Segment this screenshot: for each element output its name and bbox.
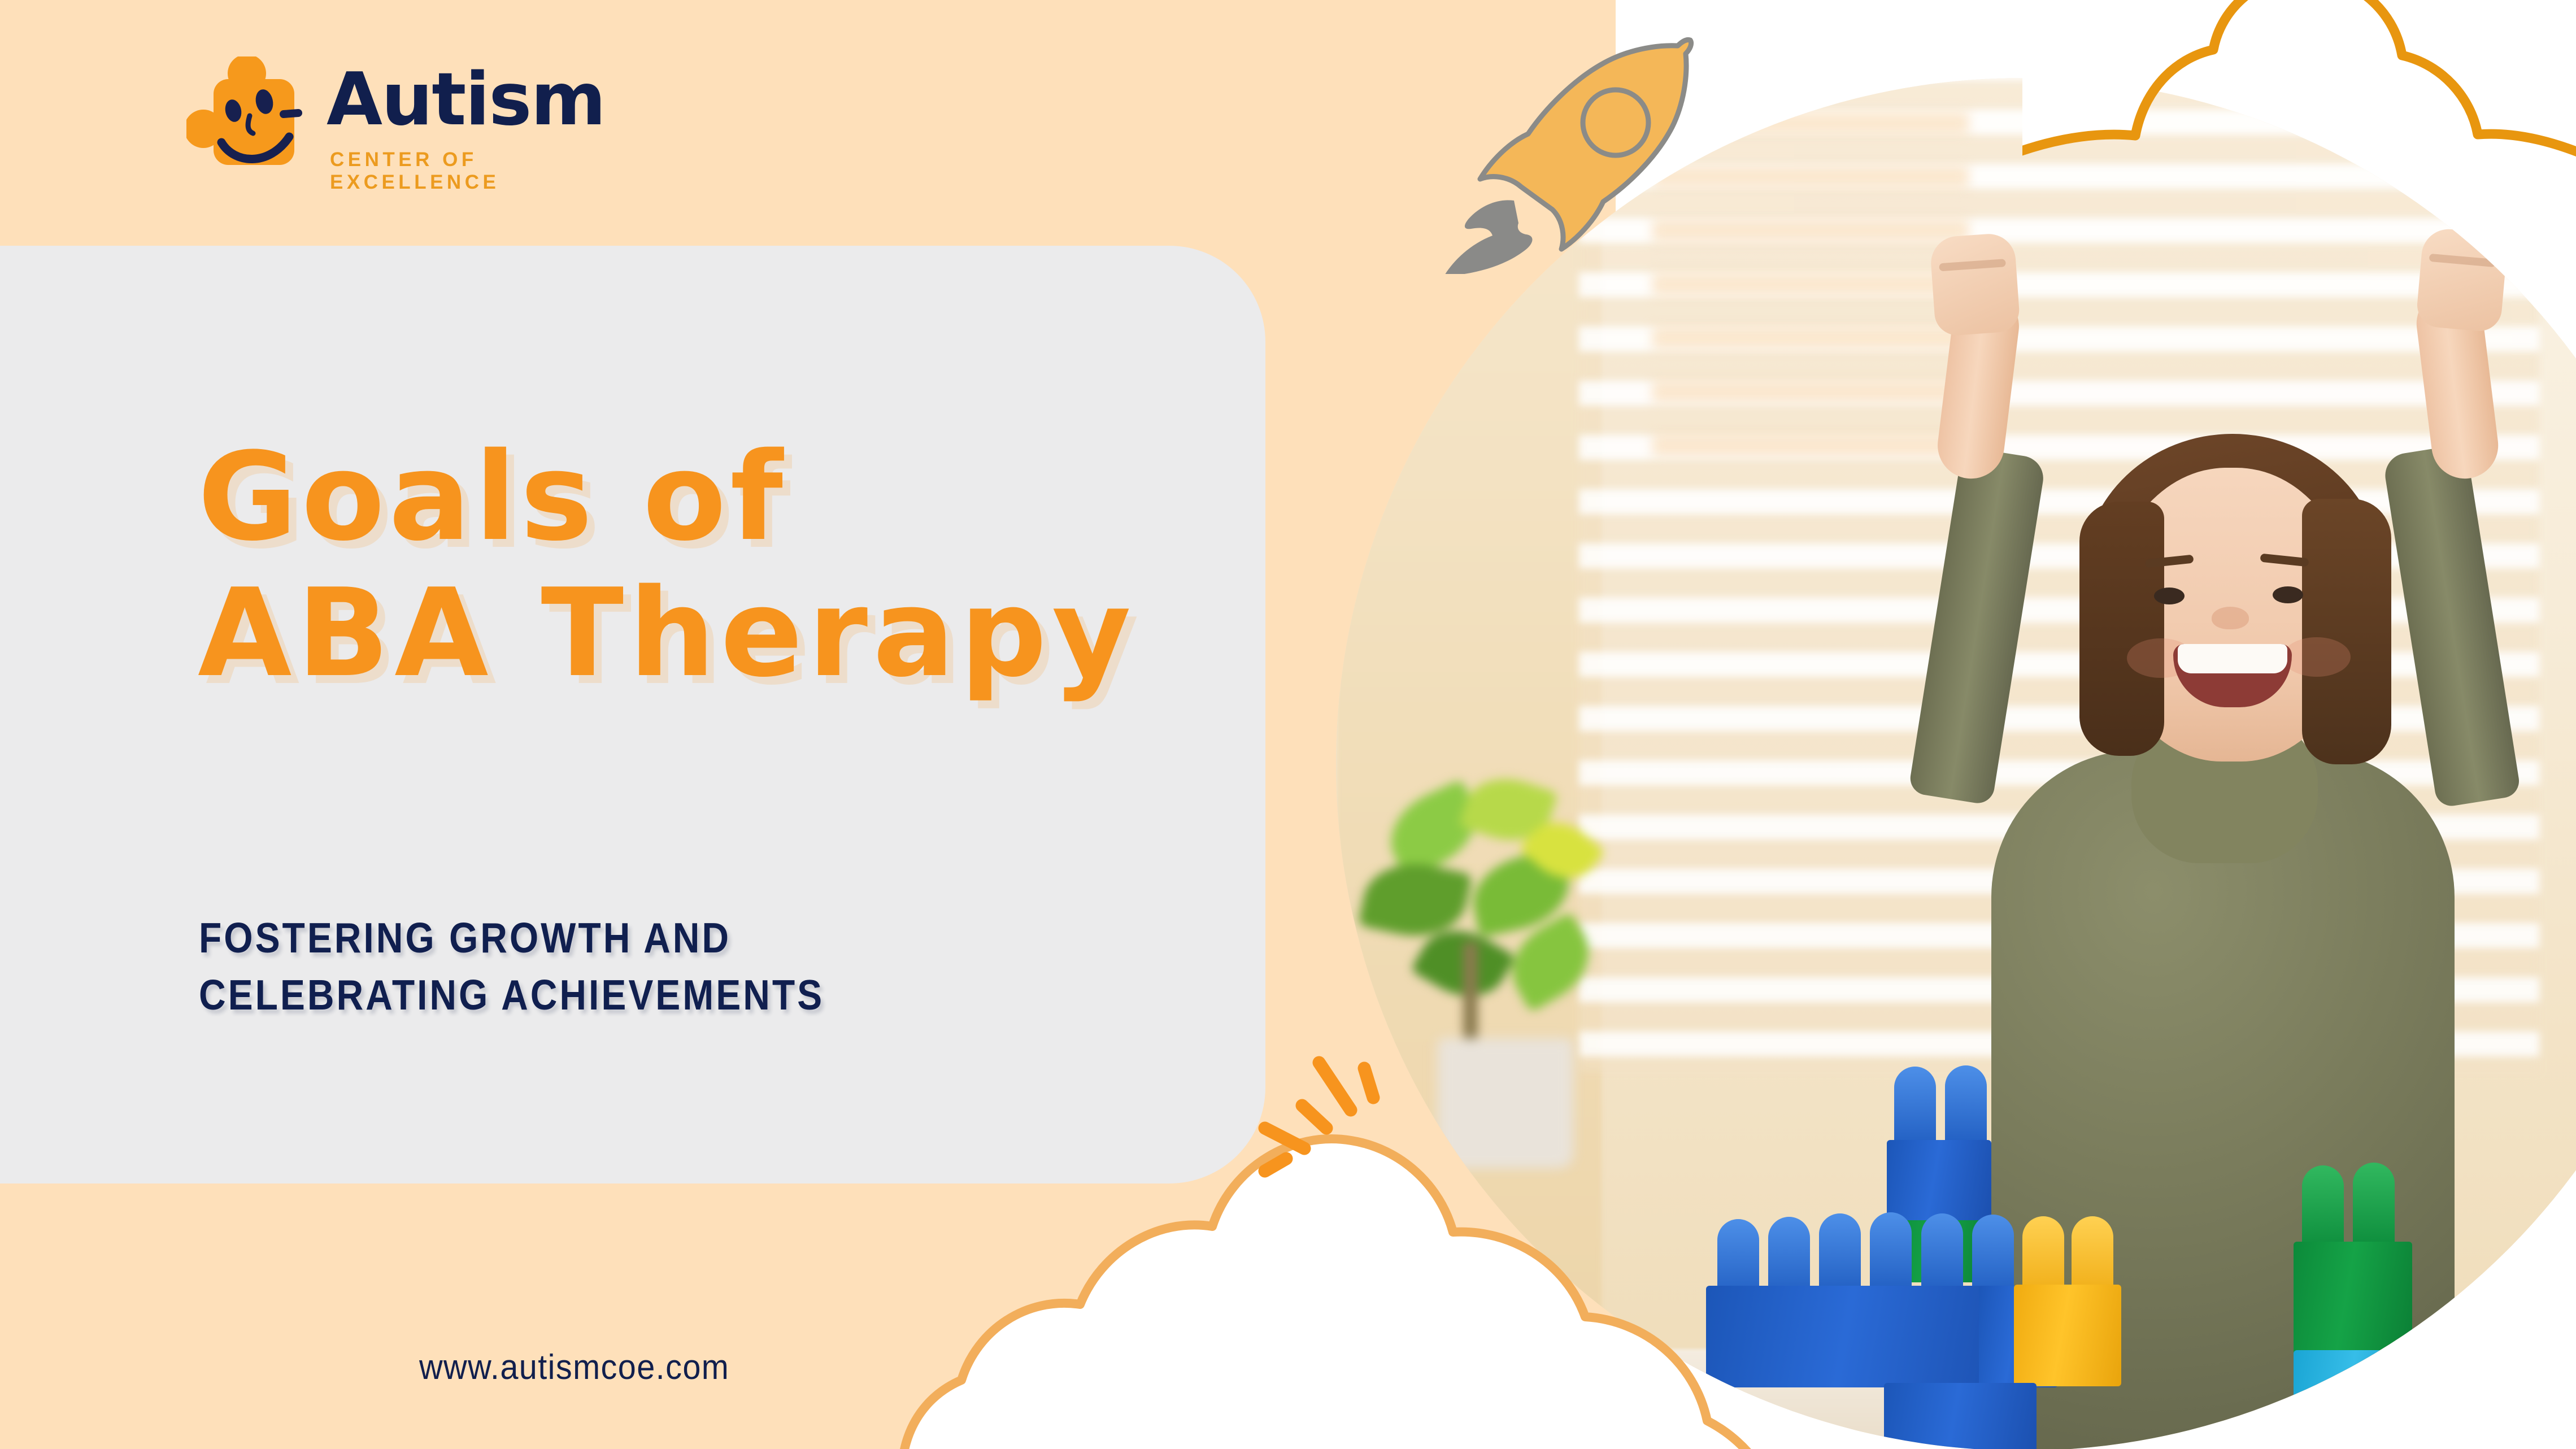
- photo-child-hair-left: [2079, 502, 2164, 756]
- photo-child-hair-right: [2302, 499, 2391, 764]
- page-subtitle: FOSTERING GROWTH AND CELEBRATING ACHIEVE…: [199, 910, 1193, 1023]
- brand-logo[interactable]: Autism CENTER OF EXCELLENCE: [186, 54, 559, 189]
- promo-banner: Autism CENTER OF EXCELLENCE Goals of ABA…: [0, 0, 2576, 1449]
- title-line-1: Goals of: [198, 429, 1271, 565]
- website-url[interactable]: www.autismcoe.com: [419, 1347, 729, 1387]
- cloud-shape-top-right: [2022, 0, 2576, 215]
- page-title: Goals of ABA Therapy: [198, 429, 1271, 702]
- title-line-2: ABA Therapy: [198, 565, 1271, 702]
- logo-tagline: CENTER OF EXCELLENCE: [330, 149, 559, 194]
- subtitle-line-1: FOSTERING GROWTH AND: [199, 910, 1193, 967]
- subtitle-line-2: CELEBRATING ACHIEVEMENTS: [199, 967, 1193, 1024]
- sparkle-rays: [1251, 1042, 1438, 1206]
- rocket-icon: [1429, 37, 1723, 274]
- puzzle-piece-smiley-logo: [186, 56, 308, 178]
- logo-wordmark: Autism: [327, 64, 605, 136]
